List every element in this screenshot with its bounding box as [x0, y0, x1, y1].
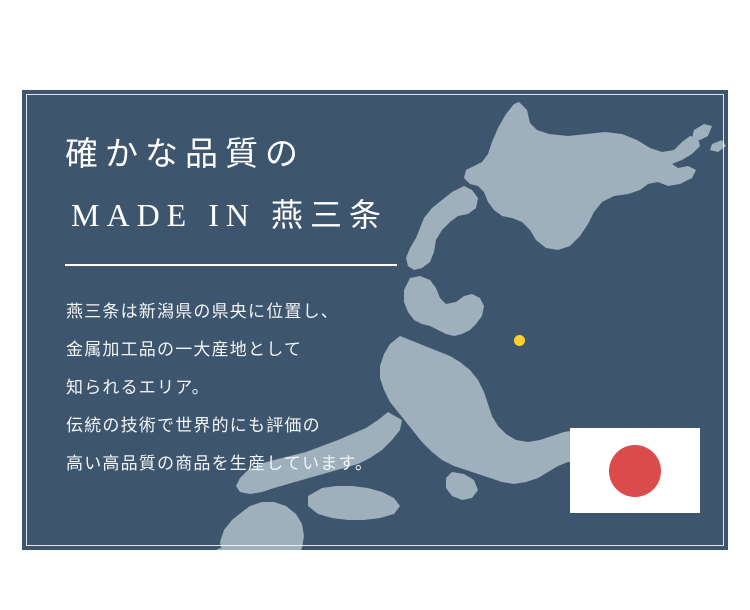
headline-line-1: 確かな品質の: [65, 136, 305, 176]
tsubamesanjo-location-marker: [514, 335, 525, 346]
description-line: 燕三条は新潟県の県央に位置し、: [66, 293, 446, 331]
description-text: 燕三条は新潟県の県央に位置し、 金属加工品の一大産地として 知られるエリア。 伝…: [66, 293, 446, 483]
promo-banner: 確かな品質の MADE IN 燕三条 燕三条は新潟県の県央に位置し、 金属加工品…: [0, 0, 750, 610]
panel-content: 確かな品質の MADE IN 燕三条 燕三条は新潟県の県央に位置し、 金属加工品…: [65, 90, 485, 550]
made-in-tsubamesanjo-panel: 確かな品質の MADE IN 燕三条 燕三条は新潟県の県央に位置し、 金属加工品…: [22, 90, 728, 550]
headline-divider: [65, 264, 397, 266]
description-line: 伝統の技術で世界的にも評価の: [66, 407, 446, 445]
headline-line-2: MADE IN 燕三条: [71, 196, 388, 234]
japan-flag-icon: [570, 428, 700, 513]
description-line: 金属加工品の一大産地として: [66, 331, 446, 369]
description-line: 高い高品質の商品を生産しています。: [66, 445, 446, 483]
description-line: 知られるエリア。: [66, 369, 446, 407]
flag-red-disc: [609, 445, 661, 497]
